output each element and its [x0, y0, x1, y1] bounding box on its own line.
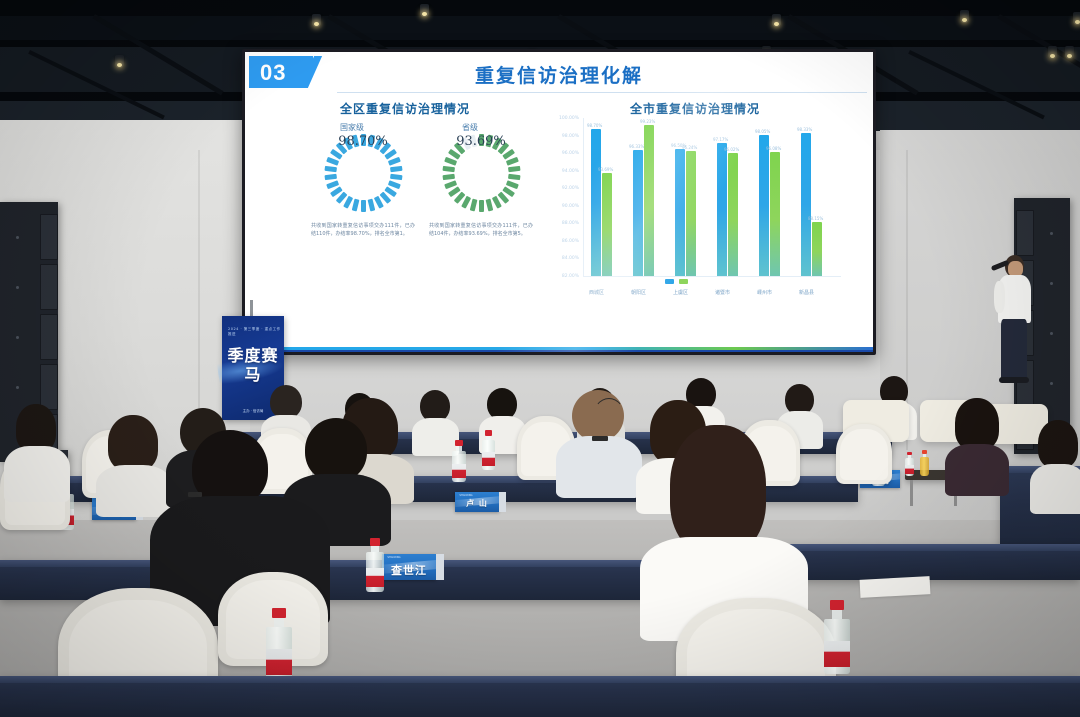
bar — [759, 135, 769, 276]
bar — [602, 173, 612, 276]
ceiling-spotlight — [772, 14, 781, 27]
bar — [686, 151, 696, 276]
bar-value-label: 93.69% — [598, 167, 613, 172]
ceiling-spotlight — [312, 14, 321, 27]
left-panel-subtitle: 全区重复信访治理情况 — [305, 100, 505, 117]
banner-top-line: 2024 · 第三季度 · 重点工作推进 — [228, 327, 284, 337]
donut-tick — [442, 166, 455, 172]
donut-tick — [351, 199, 359, 212]
slide-title: 重复信访治理化解 — [245, 61, 873, 88]
bar — [644, 125, 654, 276]
y-axis-tick: 96.00% — [545, 151, 579, 156]
bar-group: 98.33%88.15% — [797, 118, 839, 276]
y-axis-tick: 98.00% — [545, 134, 579, 139]
ceiling-spotlight — [1065, 46, 1074, 59]
bar — [801, 133, 811, 276]
presenter — [994, 255, 1040, 385]
bar-group: 97.17%96.02% — [713, 118, 755, 276]
bar-value-label: 96.08% — [766, 146, 781, 151]
nameplate-org: SHAOXING — [459, 494, 472, 497]
microphone-base — [188, 492, 202, 497]
nameplate-name: 卢 山 — [455, 498, 499, 509]
bar-value-label: 97.17% — [713, 137, 728, 142]
header-divider — [337, 92, 867, 93]
donut-tick — [367, 199, 375, 212]
donut-tick — [442, 174, 455, 180]
donut-tick — [324, 174, 337, 180]
bar — [591, 129, 601, 276]
bar-group: 98.70%93.69% — [587, 118, 629, 276]
bar — [770, 152, 780, 276]
slide-header: 03 重复信访治理化解 — [245, 52, 873, 92]
beverage-bottle — [920, 450, 929, 476]
donut-description: 共收到国家转重复信访事项交办111件，已办结110件，办结率98.70%，排名全… — [311, 222, 415, 238]
y-axis-tick: 82.00% — [545, 274, 579, 279]
nameplate-name: 查世江 — [382, 562, 436, 578]
bar-value-label: 88.15% — [808, 216, 823, 221]
beverage-bottle — [824, 600, 850, 674]
nameplate: SHAOXING 查世江 — [382, 554, 436, 580]
bar-value-label: 98.33% — [797, 127, 812, 132]
legend-swatch — [679, 279, 688, 284]
bar-group: 96.33%99.23% — [629, 118, 671, 276]
bar-value-label: 99.23% — [640, 119, 655, 124]
x-axis-label: 朝阳区 — [631, 289, 646, 296]
y-axis-line — [583, 118, 584, 276]
bar-chart: 100.00%98.00%96.00%94.00%92.00%90.00%88.… — [545, 118, 845, 308]
ceiling-spotlight — [420, 4, 429, 17]
bar-value-label: 98.05% — [755, 129, 770, 134]
donut-tick — [361, 200, 366, 212]
ceiling-spotlight — [1048, 46, 1057, 59]
x-axis-label: 嵊州市 — [757, 289, 772, 296]
bar-value-label: 96.24% — [682, 145, 697, 150]
x-axis-label: 西城区 — [589, 289, 604, 296]
presentation-slide: 03 重复信访治理化解 全区重复信访治理情况 全市重复信访治理情况 国家级 98… — [245, 52, 873, 352]
nameplate-org: SHAOXING — [387, 556, 400, 559]
bar-value-label: 96.02% — [724, 147, 739, 152]
beverage-bottle — [366, 538, 384, 592]
donut-tick — [485, 199, 493, 212]
bar-group: 98.05%96.08% — [755, 118, 797, 276]
beverage-bottle — [482, 430, 495, 470]
nameplate: SHAOXING 卢 山 — [455, 492, 499, 512]
x-axis-line — [583, 276, 841, 277]
donut-tick — [508, 174, 521, 180]
donut-description: 共收到国家转重复信访事项交办111件，已办结104件，办结率93.69%，排名全… — [429, 222, 533, 238]
bar-value-label: 98.70% — [587, 123, 602, 128]
bar-value-label: 96.33% — [629, 144, 644, 149]
table-row-4 — [0, 676, 1080, 717]
y-axis-tick: 90.00% — [545, 204, 579, 209]
microphone-gooseneck — [592, 398, 626, 440]
donut-tick — [508, 166, 521, 172]
bar — [728, 153, 738, 276]
donut-caption: 国家级 — [302, 122, 402, 133]
presenter-shoes — [999, 377, 1029, 383]
chair — [836, 424, 892, 484]
beverage-bottle — [266, 608, 292, 682]
y-axis-tick: 84.00% — [545, 256, 579, 261]
x-axis-label: 上虞区 — [673, 289, 688, 296]
donut-tick — [469, 199, 477, 212]
presenter-trousers — [1001, 319, 1027, 379]
bar — [812, 222, 822, 276]
donut-value: 98.70% — [324, 134, 402, 149]
conference-room-scene: 03 重复信访治理化解 全区重复信访治理情况 全市重复信访治理情况 国家级 98… — [0, 0, 1080, 717]
document-paper — [860, 576, 931, 598]
bar — [717, 143, 727, 276]
y-axis-tick: 92.00% — [545, 186, 579, 191]
donut-tick — [390, 174, 403, 180]
donut-caption: 省级 — [420, 122, 520, 133]
y-axis-tick: 100.00% — [545, 116, 579, 121]
x-axis-label: 新昌县 — [799, 289, 814, 296]
y-axis-tick: 86.00% — [545, 239, 579, 244]
donut-tick — [479, 200, 484, 212]
y-axis-tick: 88.00% — [545, 221, 579, 226]
bar — [633, 150, 643, 276]
banner-main-text: 季度赛马 — [222, 346, 284, 384]
screen-surface: 03 重复信访治理化解 全区重复信访治理情况 全市重复信访治理情况 国家级 98… — [245, 52, 873, 352]
legend-swatch — [665, 279, 674, 284]
presenter-arm — [994, 281, 1005, 313]
donut-tick — [324, 166, 337, 172]
donut-tick — [390, 166, 403, 172]
slide-footer-underline — [245, 350, 873, 352]
bar-group: 96.50%96.24% — [671, 118, 713, 276]
projection-screen: 03 重复信访治理化解 全区重复信访治理情况 全市重复信访治理情况 国家级 98… — [242, 49, 876, 355]
donut-value: 93.69% — [442, 134, 520, 149]
ceiling-spotlight — [1073, 12, 1080, 25]
y-axis-tick: 94.00% — [545, 169, 579, 174]
beverage-bottle — [452, 440, 466, 482]
beverage-bottle — [905, 452, 914, 476]
right-panel-subtitle: 全市重复信访治理情况 — [555, 100, 835, 117]
bar — [675, 149, 685, 276]
x-axis-label: 诸暨市 — [715, 289, 730, 296]
ceiling-spotlight — [115, 55, 124, 68]
ceiling-spotlight — [960, 10, 969, 23]
